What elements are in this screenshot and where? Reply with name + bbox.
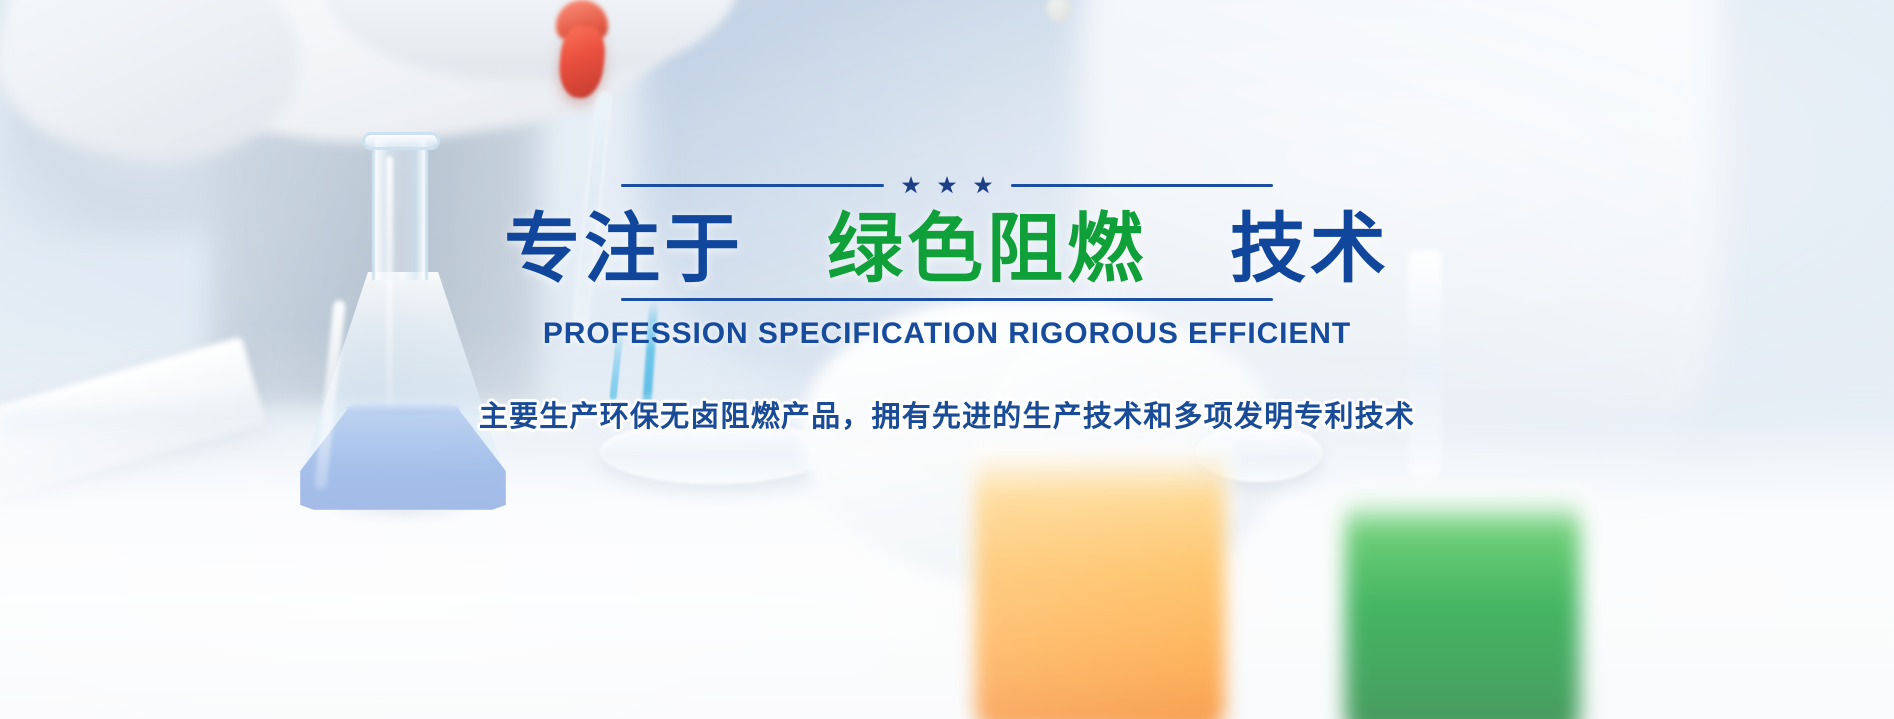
headline-part-1: 专注于 — [504, 204, 744, 293]
erlenmeyer-flask-icon — [300, 140, 550, 510]
headline-part-3: 技术 — [1230, 204, 1390, 293]
star-icon — [902, 176, 921, 195]
flask-highlight-neck — [386, 156, 393, 406]
divider-line-bottom — [621, 298, 1273, 301]
flask-liquid-surface — [346, 402, 460, 414]
orange-beaker-icon — [975, 452, 1225, 719]
star-icon — [974, 176, 993, 195]
tagline-chinese: 主要生产环保无卤阻燃产品，拥有先进的生产技术和多项发明专利技术 — [479, 393, 1415, 435]
divider-line-top-right — [1011, 184, 1274, 187]
star-group — [884, 176, 1011, 195]
subtitle-english: PROFESSION SPECIFICATION RIGOROUS EFFICI… — [543, 317, 1351, 351]
star-icon — [938, 176, 957, 195]
divider-line-top-left — [621, 184, 884, 187]
flask-lip — [362, 132, 440, 150]
green-beaker-icon — [1345, 498, 1580, 719]
headline-part-2: 绿色阻燃 — [827, 204, 1147, 293]
divider-with-stars — [621, 176, 1273, 195]
page-title: 专注于 绿色阻燃 技术 — [504, 209, 1390, 290]
flask-neck — [372, 140, 428, 280]
hero-banner: 专注于 绿色阻燃 技术 PROFESSION SPECIFICATION RIG… — [0, 0, 1894, 719]
test-tube-right — [1408, 250, 1442, 480]
